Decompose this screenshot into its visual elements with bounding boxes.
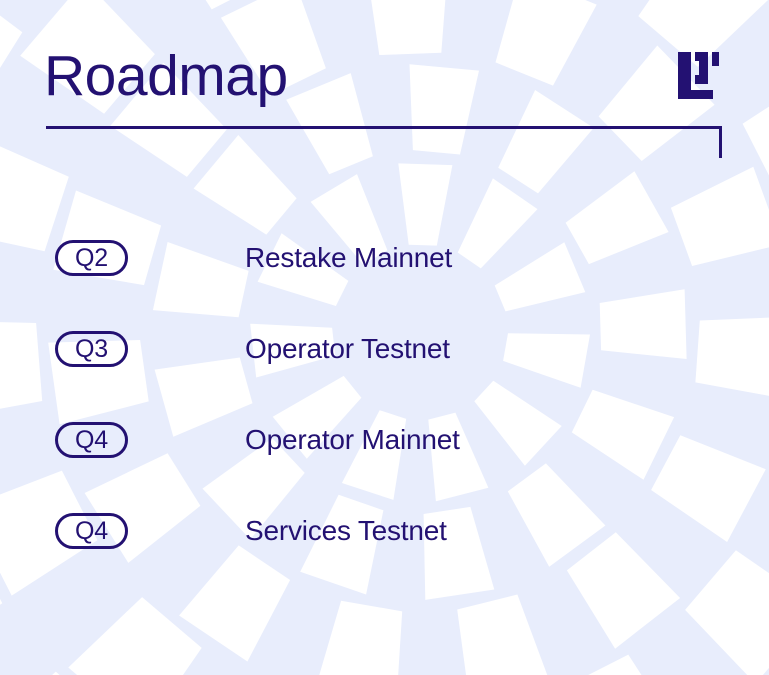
roadmap-slide: Roadmap Q2 Restake Mainnet Q3 Operator T… — [0, 0, 769, 675]
quarter-badge: Q3 — [55, 331, 128, 367]
milestone-label: Operator Testnet — [245, 332, 450, 366]
roadmap-row[interactable]: Q2 Restake Mainnet — [55, 239, 655, 277]
quarter-badge: Q2 — [55, 240, 128, 276]
roadmap-row[interactable]: Q4 Services Testnet — [55, 512, 655, 550]
roadmap-list: Q2 Restake Mainnet Q3 Operator Testnet Q… — [0, 0, 769, 675]
roadmap-row[interactable]: Q4 Operator Mainnet — [55, 421, 655, 459]
milestone-label: Restake Mainnet — [245, 241, 452, 275]
milestone-label: Services Testnet — [245, 514, 447, 548]
quarter-badge: Q4 — [55, 422, 128, 458]
roadmap-row[interactable]: Q3 Operator Testnet — [55, 330, 655, 368]
milestone-label: Operator Mainnet — [245, 423, 460, 457]
slide-content: Roadmap Q2 Restake Mainnet Q3 Operator T… — [0, 0, 769, 675]
quarter-badge: Q4 — [55, 513, 128, 549]
